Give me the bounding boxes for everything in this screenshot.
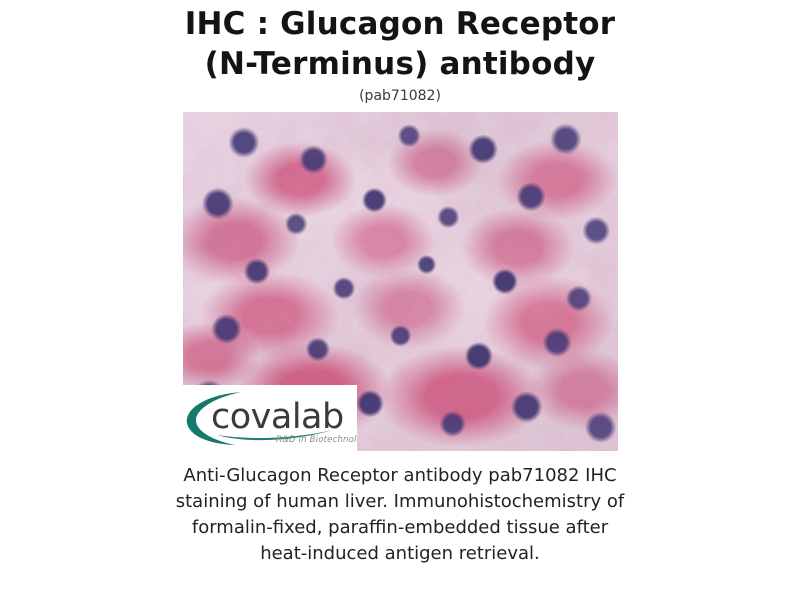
caption-line-2: staining of human liver. Immunohistochem… <box>120 489 680 515</box>
logo-tagline: R&D in Biotechnology <box>276 435 357 445</box>
micrograph-container: covalab R&D in Biotechnology <box>183 112 618 451</box>
page-title-line-1: IHC : Glucagon Receptor <box>0 4 800 44</box>
covalab-logo-svg: covalab R&D in Biotechnology <box>183 385 357 451</box>
caption-line-4: heat-induced antigen retrieval. <box>120 541 680 567</box>
title-block: IHC : Glucagon Receptor (N-Terminus) ant… <box>0 0 800 106</box>
covalab-logo: covalab R&D in Biotechnology <box>183 385 357 451</box>
figure-page: IHC : Glucagon Receptor (N-Terminus) ant… <box>0 0 800 600</box>
logo-wordmark: covalab <box>211 397 344 437</box>
catalog-number: (pab71082) <box>0 86 800 106</box>
figure-caption: Anti-Glucagon Receptor antibody pab71082… <box>120 463 680 567</box>
caption-line-3: formalin-fixed, paraffin-embedded tissue… <box>120 515 680 541</box>
caption-line-1: Anti-Glucagon Receptor antibody pab71082… <box>120 463 680 489</box>
page-title-line-2: (N-Terminus) antibody <box>0 44 800 84</box>
